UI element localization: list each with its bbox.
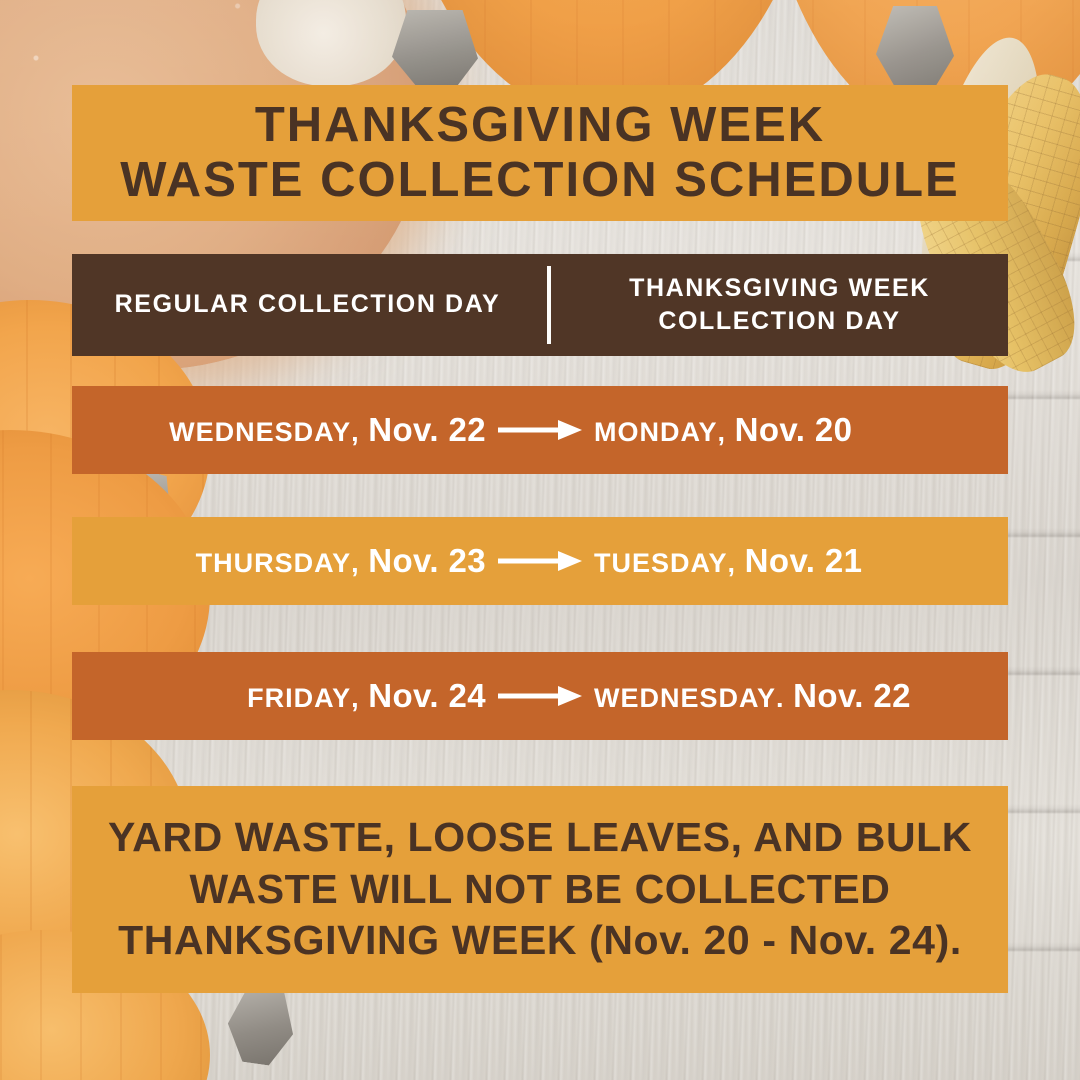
- column-header-regular-day-label: REGULAR COLLECTION DAY: [115, 288, 501, 322]
- thanksgiving-day-cell: MONDAY,Nov. 20: [590, 411, 1008, 449]
- regular-day-date: Nov. 22: [368, 411, 486, 449]
- notice-line-2: WASTE WILL NOT BE COLLECTED: [189, 864, 890, 916]
- title-banner: THANKSGIVING WEEK WASTE COLLECTION SCHED…: [72, 85, 1008, 221]
- regular-day-name: FRIDAY: [247, 683, 351, 714]
- regular-day-cell: THURSDAY,Nov. 23: [72, 542, 490, 580]
- thanksgiving-day-name: MONDAY: [594, 417, 718, 448]
- thanksgiving-day-separator: .: [776, 683, 784, 714]
- notice-line-1: YARD WASTE, LOOSE LEAVES, AND BULK: [108, 812, 972, 864]
- arrow-right-icon: [490, 683, 590, 709]
- title-line-2: WASTE COLLECTION SCHEDULE: [120, 153, 959, 208]
- column-header-thanksgiving-day: THANKSGIVING WEEK COLLECTION DAY: [551, 272, 1008, 339]
- regular-day-name: THURSDAY: [196, 548, 352, 579]
- notice-banner: YARD WASTE, LOOSE LEAVES, AND BULK WASTE…: [72, 786, 1008, 993]
- thanksgiving-day-value: WEDNESDAY.Nov. 22: [594, 677, 911, 715]
- title-line-1: THANKSGIVING WEEK: [255, 98, 825, 153]
- regular-day-separator: ,: [351, 417, 359, 448]
- notice-line-3: THANKSGIVING WEEK (Nov. 20 - Nov. 24).: [118, 915, 962, 967]
- regular-day-value: THURSDAY,Nov. 23: [196, 542, 486, 580]
- thanksgiving-day-value: MONDAY,Nov. 20: [594, 411, 852, 449]
- regular-day-date: Nov. 23: [368, 542, 486, 580]
- thanksgiving-day-cell: TUESDAY,Nov. 21: [590, 542, 1008, 580]
- regular-day-cell: FRIDAY,Nov. 24: [72, 677, 490, 715]
- arrow-right-icon: [490, 548, 590, 574]
- thanksgiving-day-value: TUESDAY,Nov. 21: [594, 542, 862, 580]
- thanksgiving-day-name: WEDNESDAY: [594, 683, 776, 714]
- arrow-right-icon: [490, 417, 590, 443]
- schedule-row: THURSDAY,Nov. 23 TUESDAY,Nov. 21: [72, 517, 1008, 605]
- regular-day-date: Nov. 24: [368, 677, 486, 715]
- thanksgiving-day-date: Nov. 21: [745, 542, 863, 580]
- regular-day-value: FRIDAY,Nov. 24: [247, 677, 486, 715]
- thanksgiving-day-date: Nov. 20: [735, 411, 853, 449]
- column-header-thanksgiving-line-2: COLLECTION DAY: [658, 305, 900, 339]
- schedule-row: WEDNESDAY,Nov. 22 MONDAY,Nov. 20: [72, 386, 1008, 474]
- thanksgiving-day-separator: ,: [718, 417, 726, 448]
- regular-day-value: WEDNESDAY,Nov. 22: [169, 411, 486, 449]
- regular-day-separator: ,: [351, 683, 359, 714]
- thanksgiving-day-date: Nov. 22: [793, 677, 911, 715]
- regular-day-separator: ,: [351, 548, 359, 579]
- schedule-row: FRIDAY,Nov. 24 WEDNESDAY.Nov. 22: [72, 652, 1008, 740]
- column-header-thanksgiving-line-1: THANKSGIVING WEEK: [629, 272, 930, 306]
- regular-day-cell: WEDNESDAY,Nov. 22: [72, 411, 490, 449]
- column-header-regular-day: REGULAR COLLECTION DAY: [72, 288, 547, 322]
- thanksgiving-day-separator: ,: [728, 548, 736, 579]
- thanksgiving-day-name: TUESDAY: [594, 548, 728, 579]
- regular-day-name: WEDNESDAY: [169, 417, 351, 448]
- table-header-row: REGULAR COLLECTION DAY THANKSGIVING WEEK…: [72, 254, 1008, 356]
- thanksgiving-day-cell: WEDNESDAY.Nov. 22: [590, 677, 1008, 715]
